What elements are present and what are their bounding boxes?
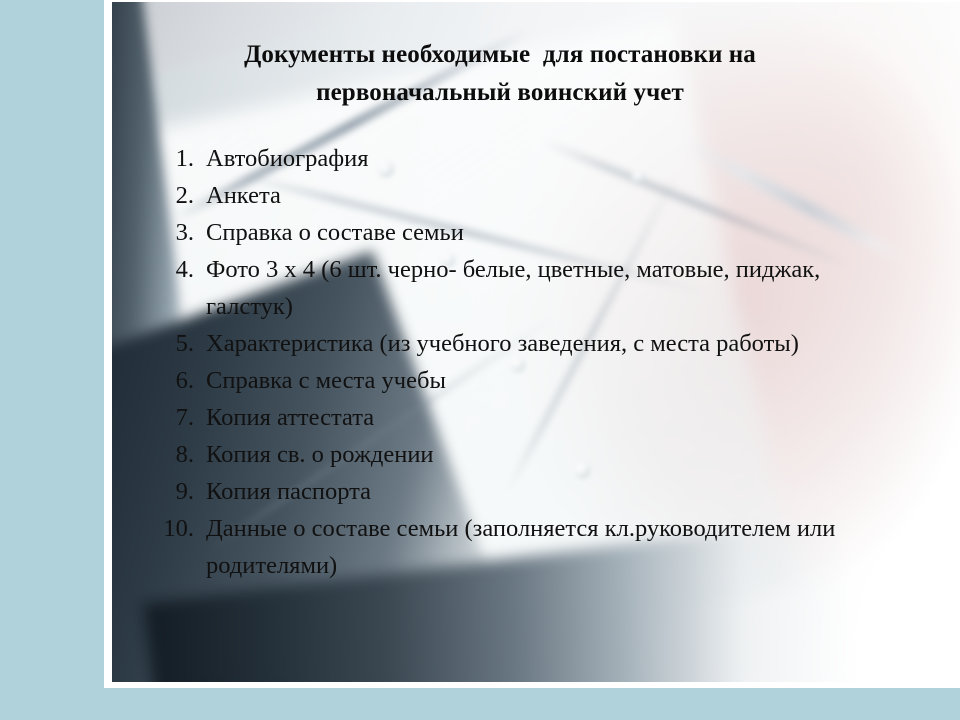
list-item-number: 10. — [160, 510, 206, 547]
list-item-text: Данные о составе семьи (заполняется кл.р… — [206, 510, 880, 584]
documents-list: 1. Автобиография 2. Анкета 3. Справка о … — [160, 140, 880, 584]
list-item-number: 5. — [160, 325, 206, 362]
list-item: 5. Характеристика (из учебного заведения… — [160, 325, 880, 362]
list-item-text: Фото 3 х 4 (6 шт. черно- белые, цветные,… — [206, 251, 880, 325]
list-item-number: 8. — [160, 436, 206, 473]
list-item-text: Справка о составе семьи — [206, 214, 880, 251]
list-item: 4. Фото 3 х 4 (6 шт. черно- белые, цветн… — [160, 251, 880, 325]
list-item: 9. Копия паспорта — [160, 473, 880, 510]
list-item-text: Копия аттестата — [206, 399, 880, 436]
list-item: 1. Автобиография — [160, 140, 880, 177]
list-item-text: Характеристика (из учебного заведения, с… — [206, 325, 880, 362]
list-item-text: Копия паспорта — [206, 473, 880, 510]
list-item-number: 1. — [160, 140, 206, 177]
list-item-number: 2. — [160, 177, 206, 214]
list-item-number: 6. — [160, 362, 206, 399]
list-item: 7. Копия аттестата — [160, 399, 880, 436]
list-item: 6. Справка с места учебы — [160, 362, 880, 399]
slide: Документы необходимые для постановки на … — [0, 0, 960, 720]
list-item-number: 3. — [160, 214, 206, 251]
list-item-text: Автобиография — [206, 140, 880, 177]
list-item: 8. Копия св. о рождении — [160, 436, 880, 473]
list-item-text: Копия св. о рождении — [206, 436, 880, 473]
slide-accent-band-bottom — [0, 688, 960, 720]
list-item: 10. Данные о составе семьи (заполняется … — [160, 510, 880, 584]
slide-accent-band-left — [0, 0, 104, 720]
list-item-number: 9. — [160, 473, 206, 510]
list-item-number: 7. — [160, 399, 206, 436]
list-item-text: Справка с места учебы — [206, 362, 880, 399]
list-item: 3. Справка о составе семьи — [160, 214, 880, 251]
list-item-number: 4. — [160, 251, 206, 288]
slide-title: Документы необходимые для постановки на … — [150, 36, 850, 112]
list-item: 2. Анкета — [160, 177, 880, 214]
list-item-text: Анкета — [206, 177, 880, 214]
